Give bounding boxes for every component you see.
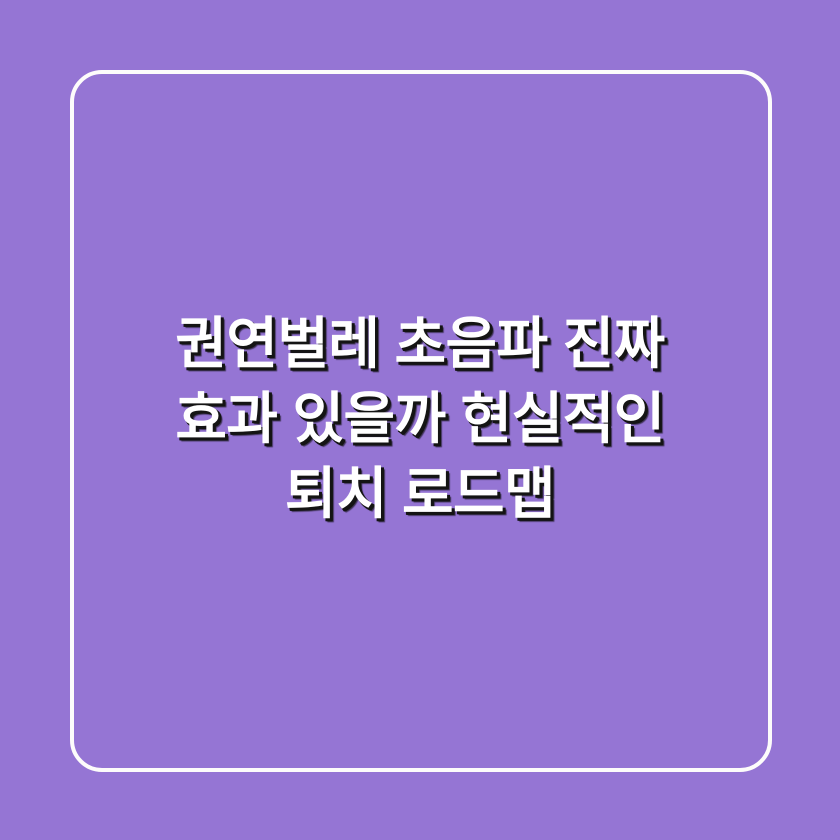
thumbnail-card: 권연벌레 초음파 진짜 효과 있을까 현실적인 퇴치 로드맵 (0, 0, 840, 840)
headline-line-1: 권연벌레 초음파 진짜 (96, 306, 744, 381)
headline-line-3: 퇴치 로드맵 (96, 456, 744, 531)
headline-block: 권연벌레 초음파 진짜 효과 있을까 현실적인 퇴치 로드맵 (0, 306, 840, 531)
headline-line-2: 효과 있을까 현실적인 (96, 381, 744, 456)
